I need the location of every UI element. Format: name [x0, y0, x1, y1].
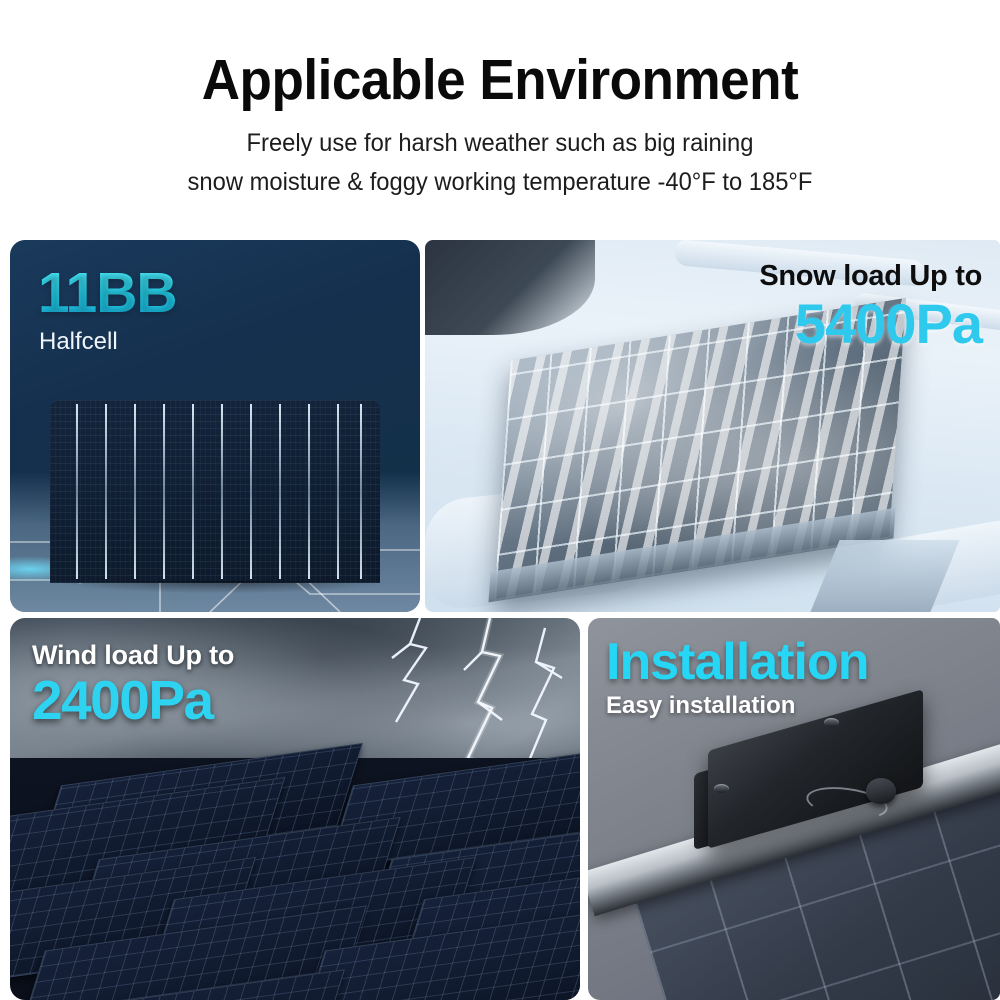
wind-load-value: 2400Pa	[32, 671, 234, 729]
header-section: Applicable Environment Freely use for ha…	[0, 0, 1000, 228]
card-wind-load: Wind load Up to 2400Pa	[10, 618, 580, 1000]
solar-cell-image	[50, 400, 380, 585]
wind-load-label: Wind load Up to 2400Pa	[32, 640, 234, 729]
subtitle-line-2: snow moisture & foggy working temperatur…	[25, 166, 975, 198]
wind-load-headline: Wind load Up to	[32, 640, 234, 670]
snow-load-headline: Snow load Up to	[759, 260, 982, 292]
solar-cell-body	[50, 400, 380, 585]
installation-headline: Installation	[606, 634, 868, 690]
installation-label: Installation Easy installation	[606, 634, 868, 720]
halfcell-headline: 11BB	[38, 264, 177, 322]
cell-drop-shadow	[60, 581, 386, 593]
solar-array-image	[10, 758, 580, 1000]
halfcell-subline: Halfcell	[39, 328, 118, 356]
page-title: Applicable Environment	[35, 48, 965, 112]
card-snow-load: Snow load Up to 5400Pa	[425, 240, 1000, 612]
installation-subline: Easy installation	[606, 692, 868, 720]
snow-load-label: Snow load Up to 5400Pa	[759, 260, 982, 354]
infographic-page: Applicable Environment Freely use for ha…	[0, 0, 1000, 1000]
subtitle-line-1: Freely use for harsh weather such as big…	[25, 127, 975, 159]
snow-load-value: 5400Pa	[759, 294, 982, 354]
bracket-screw-hole-bottom	[714, 784, 729, 793]
card-halfcell: 11BB Halfcell	[10, 240, 420, 612]
card-installation: Installation Easy installation	[588, 618, 1000, 1000]
cell-texture	[50, 400, 380, 585]
mounting-bolt-knob	[866, 778, 896, 804]
